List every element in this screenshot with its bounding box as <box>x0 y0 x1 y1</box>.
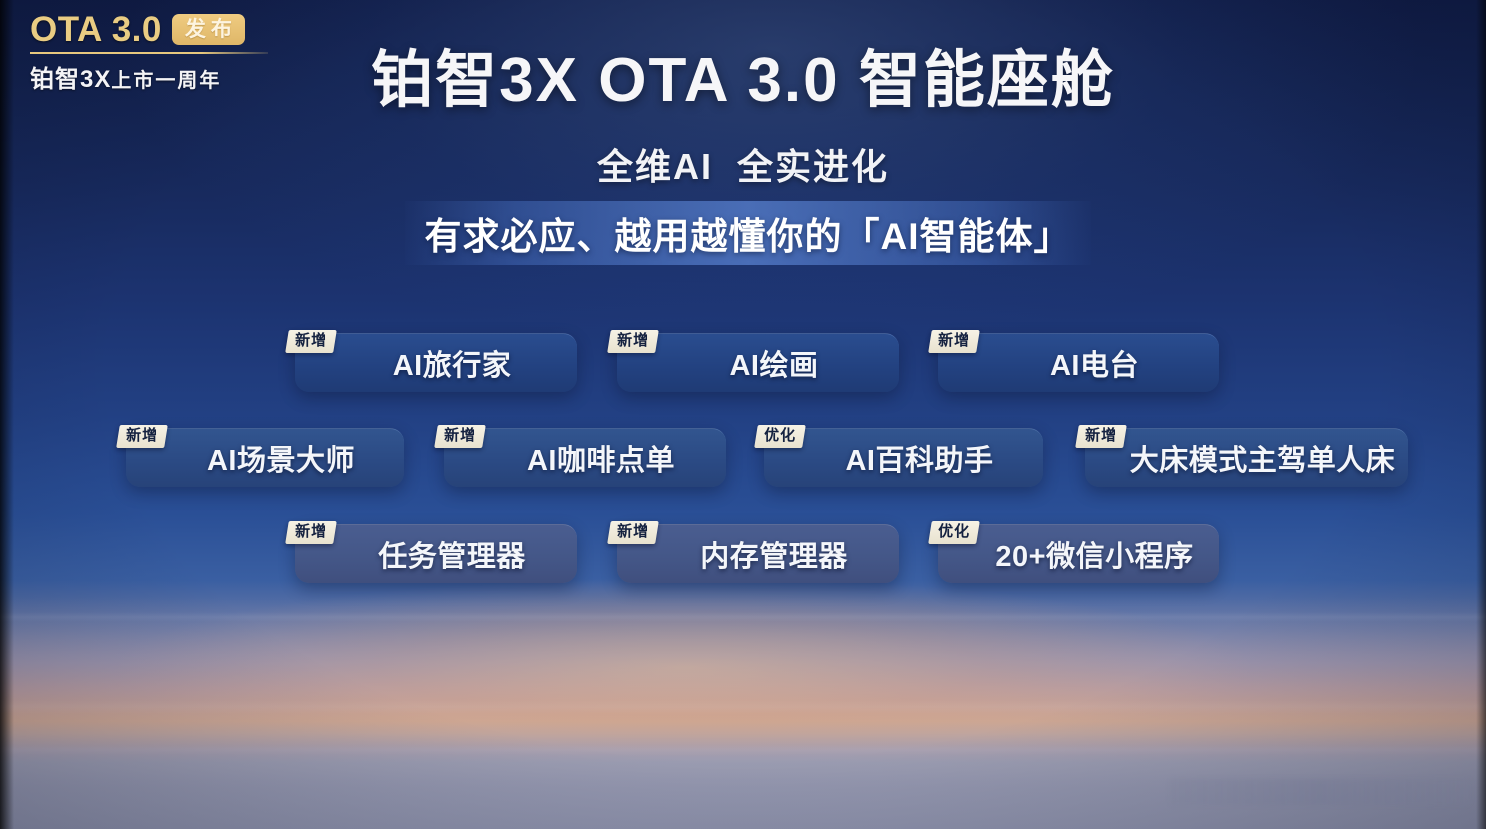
watermark <box>1170 779 1470 805</box>
feature-card[interactable]: 新增AI绘画 <box>617 333 899 392</box>
feature-card-label: 任务管理器 <box>295 533 577 575</box>
feature-card-label: AI旅行家 <box>295 342 577 384</box>
feature-card-tag-new: 新增 <box>285 521 337 544</box>
feature-card-tag-new: 新增 <box>285 330 337 353</box>
feature-card-label: AI电台 <box>938 342 1219 384</box>
feature-card[interactable]: 新增AI电台 <box>938 333 1219 392</box>
feature-card-tag-optimized: 优化 <box>928 521 980 544</box>
feature-card[interactable]: 新增任务管理器 <box>295 524 577 583</box>
feature-card-label: 大床模式主驾单人床 <box>1085 437 1408 479</box>
feature-card[interactable]: 新增大床模式主驾单人床 <box>1085 428 1408 487</box>
feature-card-tag-new: 新增 <box>607 330 659 353</box>
feature-card-tag-new: 新增 <box>1075 425 1127 448</box>
feature-card-tag-new: 新增 <box>434 425 486 448</box>
feature-card-label: AI场景大师 <box>126 437 404 479</box>
feature-card[interactable]: 新增AI场景大师 <box>126 428 404 487</box>
feature-card[interactable]: 优化AI百科助手 <box>764 428 1043 487</box>
feature-card-tag-new: 新增 <box>928 330 980 353</box>
feature-card[interactable]: 新增内存管理器 <box>617 524 899 583</box>
feature-card[interactable]: 优化20+微信小程序 <box>938 524 1219 583</box>
feature-card-tag-new: 新增 <box>607 521 659 544</box>
feature-card-tag-new: 新增 <box>116 425 168 448</box>
feature-card-grid: 新增AI旅行家新增AI绘画新增AI电台新增AI场景大师新增AI咖啡点单优化AI百… <box>0 0 1486 829</box>
feature-card-label: AI绘画 <box>617 342 899 384</box>
presentation-slide: OTA 3.0 发布 铂智3X上市一周年 铂智3X OTA 3.0 智能座舱 全… <box>0 0 1486 829</box>
feature-card-label: AI百科助手 <box>764 437 1043 479</box>
feature-card[interactable]: 新增AI旅行家 <box>295 333 577 392</box>
feature-card-label: AI咖啡点单 <box>444 437 726 479</box>
feature-card-label: 内存管理器 <box>617 533 899 575</box>
feature-card[interactable]: 新增AI咖啡点单 <box>444 428 726 487</box>
feature-card-label: 20+微信小程序 <box>938 533 1219 575</box>
feature-card-tag-optimized: 优化 <box>754 425 806 448</box>
